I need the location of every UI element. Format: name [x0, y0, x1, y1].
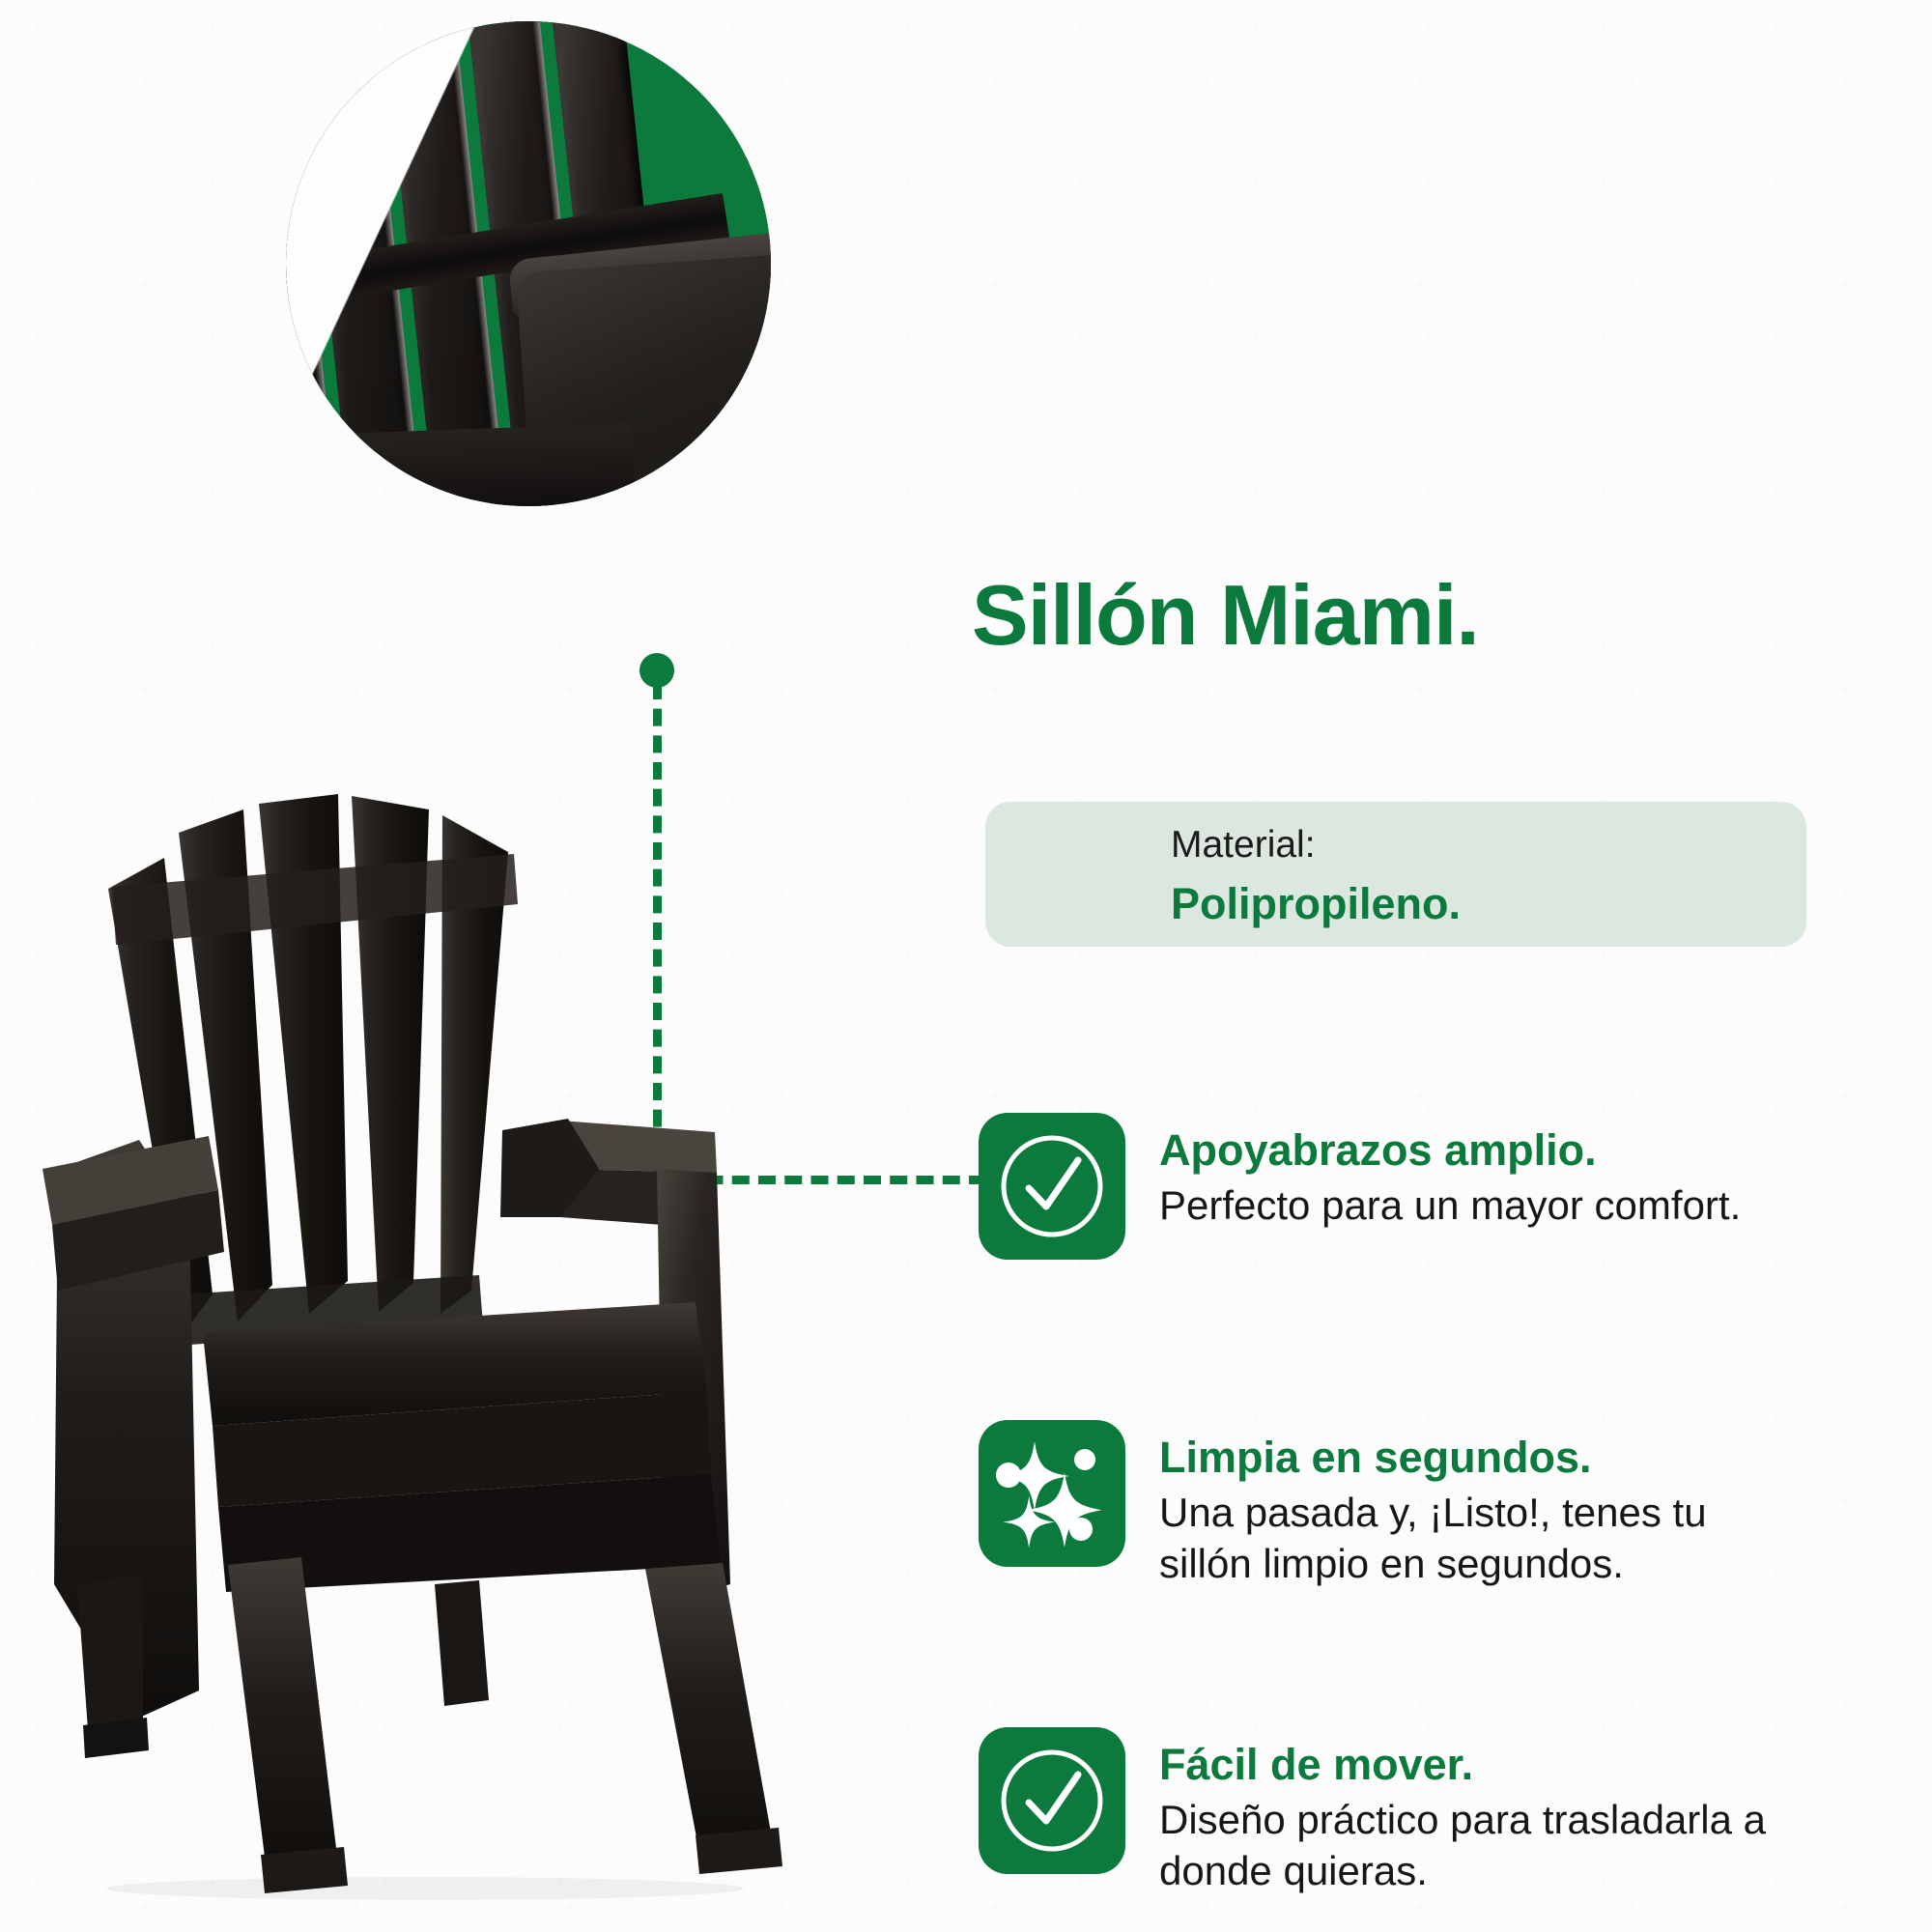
sparkles-icon — [979, 1420, 1125, 1567]
chair-center-rear-leg — [435, 1580, 489, 1706]
feature-heading: Apoyabrazos amplio. — [1159, 1126, 1741, 1175]
chair-front-right-leg — [645, 1563, 773, 1853]
product-infographic: Sillón Miami. Material: Polipropileno. A… — [0, 0, 1932, 1932]
feature-item-facil-de-mover: Fácil de mover. Diseño práctico para tra… — [979, 1727, 1766, 1896]
material-value: Polipropileno. — [1171, 879, 1461, 929]
check-circle-icon — [979, 1113, 1125, 1260]
feature-item-apoyabrazos: Apoyabrazos amplio. Perfecto para un may… — [979, 1113, 1741, 1260]
feature-description-line-1: Perfecto para un mayor comfort. — [1159, 1180, 1741, 1232]
chair-product-image — [19, 715, 918, 1903]
feature-text: Limpia en segundos. Una pasada y, ¡Listo… — [1159, 1420, 1707, 1589]
feature-text: Apoyabrazos amplio. Perfecto para un may… — [1159, 1113, 1741, 1260]
material-label: Material: — [1171, 824, 1316, 867]
feature-description-line-1: Diseño práctico para trasladarla a — [1159, 1795, 1766, 1846]
chair-illustration — [19, 715, 918, 1903]
page-title: Sillón Miami. — [972, 566, 1479, 665]
callout-left-fade — [286, 21, 522, 506]
chair-back-left-leg — [77, 1575, 143, 1743]
feature-heading: Limpia en segundos. — [1159, 1434, 1707, 1482]
feature-description: Perfecto para un mayor comfort. — [1159, 1180, 1741, 1232]
zoom-callout-circle — [286, 21, 771, 506]
chair-front-left-leg — [228, 1557, 338, 1872]
feature-heading: Fácil de mover. — [1159, 1741, 1766, 1789]
feature-description-line-2: sillón limpio en segundos. — [1159, 1539, 1707, 1590]
feature-description: Una pasada y, ¡Listo!, tenes tu sillón l… — [1159, 1488, 1707, 1589]
feature-description-line-1: Una pasada y, ¡Listo!, tenes tu — [1159, 1488, 1707, 1539]
feature-description-line-2: donde quieras. — [1159, 1846, 1766, 1897]
check-circle-icon — [979, 1727, 1125, 1874]
feature-description: Diseño práctico para trasladarla a donde… — [1159, 1795, 1766, 1896]
feature-item-limpia: Limpia en segundos. Una pasada y, ¡Listo… — [979, 1420, 1707, 1589]
feature-text: Fácil de mover. Diseño práctico para tra… — [1159, 1727, 1766, 1896]
